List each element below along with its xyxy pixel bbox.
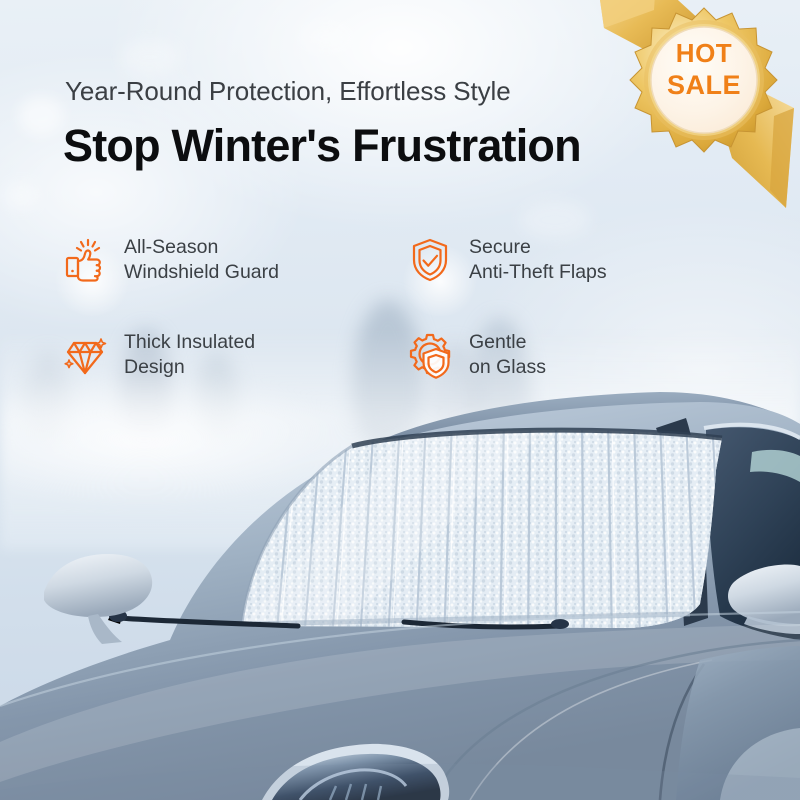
feature-item-all-season: All-Season Windshield Guard	[60, 212, 405, 307]
feature-item-insulated: Thick Insulated Design	[60, 307, 405, 402]
feature-label: All-Season Windshield Guard	[124, 235, 279, 285]
promo-headline: Stop Winter's Frustration	[63, 120, 581, 172]
feature-label-line1: Gentle	[469, 331, 526, 353]
promo-poster: Year-Round Protection, Effortless Style …	[0, 0, 800, 800]
feature-label-line2: Windshield Guard	[124, 260, 279, 285]
feature-label: Secure Anti-Theft Flaps	[469, 235, 607, 285]
promo-subtitle: Year-Round Protection, Effortless Style	[65, 76, 511, 107]
thumbs-up-sparkle-icon	[60, 235, 110, 285]
feature-label-line2: on Glass	[469, 355, 546, 380]
feature-label-line1: All-Season	[124, 236, 218, 258]
feature-item-gentle: Gentle on Glass	[405, 307, 705, 402]
feature-label-line1: Secure	[469, 236, 531, 258]
shield-check-icon	[405, 235, 455, 285]
feature-list: All-Season Windshield Guard Secure Anti-…	[60, 212, 700, 402]
feature-label-line2: Design	[124, 355, 255, 380]
feature-item-secure: Secure Anti-Theft Flaps	[405, 212, 705, 307]
feature-label-line2: Anti-Theft Flaps	[469, 260, 607, 285]
diamond-sparkle-icon	[60, 330, 110, 380]
gear-shield-icon	[405, 330, 455, 380]
feature-label: Thick Insulated Design	[124, 330, 255, 380]
feature-label-line1: Thick Insulated	[124, 331, 255, 353]
feature-label: Gentle on Glass	[469, 330, 546, 380]
hot-sale-badge[interactable]: HOT SALE	[598, 0, 800, 224]
